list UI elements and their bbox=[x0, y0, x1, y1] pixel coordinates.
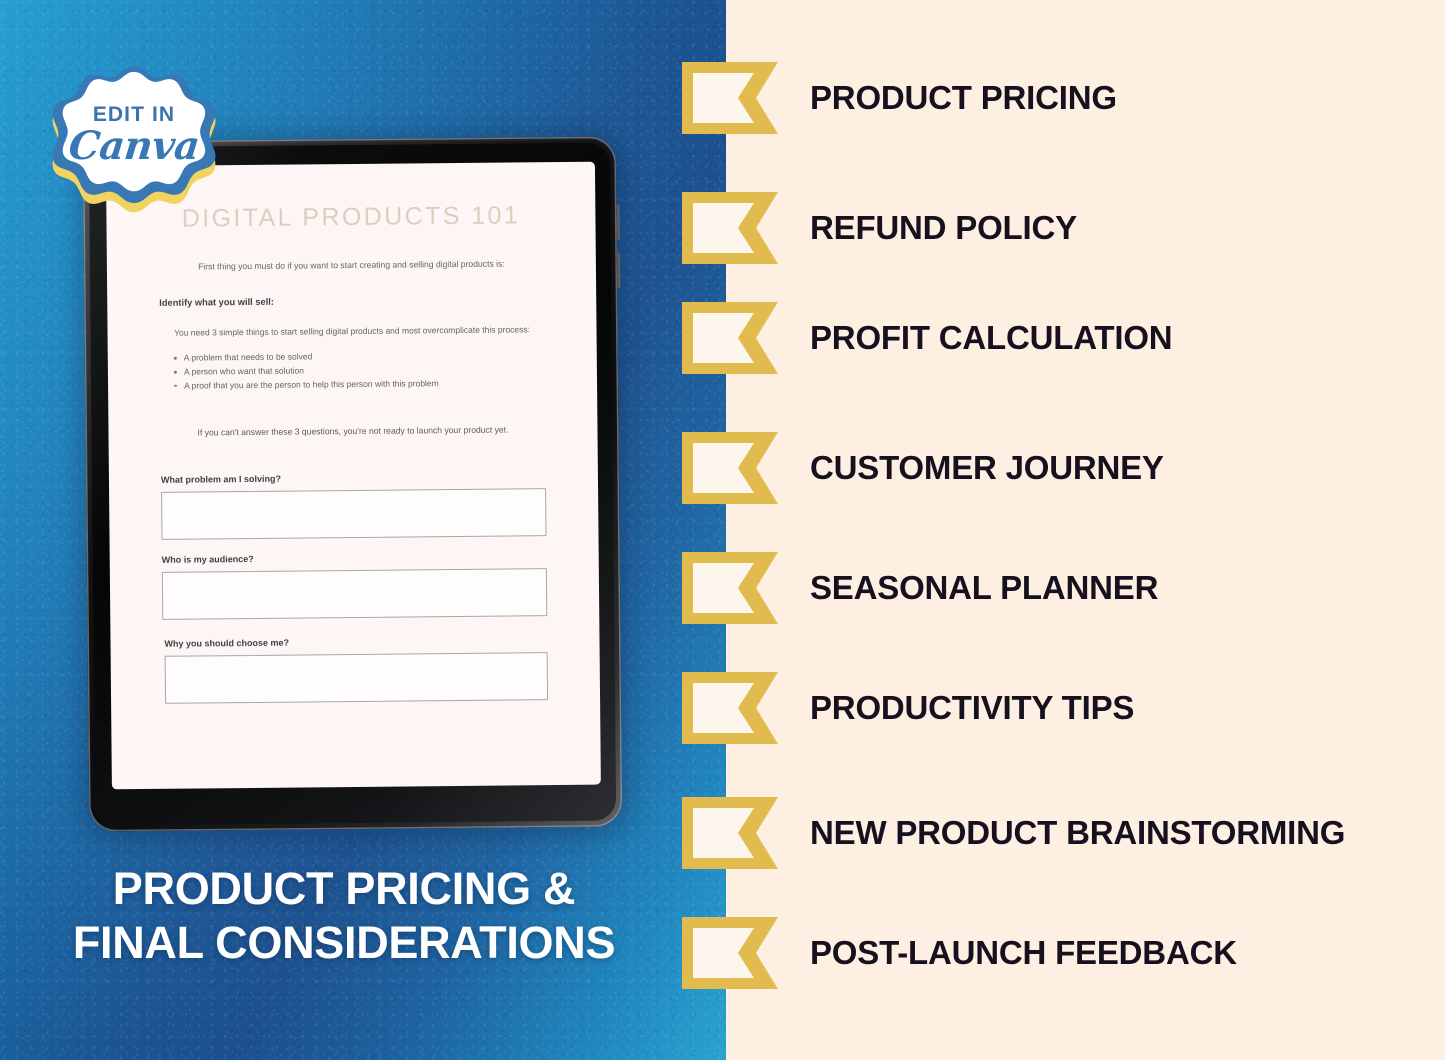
problem-answer-input[interactable] bbox=[161, 488, 546, 540]
worksheet-field-audience: Who is my audience? bbox=[162, 551, 548, 620]
document-paragraph: You need 3 simple things to start sellin… bbox=[155, 324, 548, 341]
audience-answer-input[interactable] bbox=[162, 568, 547, 620]
ribbon-flag-icon bbox=[682, 62, 778, 134]
poster-canvas: DIGITAL PRODUCTS 101 First thing you mus… bbox=[0, 0, 1445, 1060]
ribbon-flag-icon bbox=[682, 302, 778, 374]
worksheet-document: DIGITAL PRODUCTS 101 First thing you mus… bbox=[106, 162, 601, 790]
document-warning-text: If you can't answer these 3 questions, y… bbox=[148, 424, 557, 438]
feature-label: PRODUCT PRICING bbox=[810, 79, 1117, 117]
feature-label: PRODUCTIVITY TIPS bbox=[810, 689, 1134, 727]
worksheet-field-choose-me: Why you should choose me? bbox=[164, 635, 548, 704]
feature-label: NEW PRODUCT BRAINSTORMING bbox=[810, 814, 1345, 852]
choose-me-answer-input[interactable] bbox=[165, 652, 548, 704]
cream-background-panel bbox=[726, 0, 1445, 1060]
edit-in-canva-badge[interactable]: EDIT IN Canva bbox=[50, 51, 218, 219]
feature-item-productivity-tips[interactable]: PRODUCTIVITY TIPS bbox=[682, 672, 1134, 744]
feature-item-profit-calculation[interactable]: PROFIT CALCULATION bbox=[682, 302, 1172, 374]
feature-label: PROFIT CALCULATION bbox=[810, 319, 1172, 357]
ribbon-flag-icon bbox=[682, 552, 778, 624]
field-label: Who is my audience? bbox=[162, 551, 547, 565]
poster-title-line-2: FINAL CONSIDERATIONS bbox=[0, 916, 688, 970]
poster-title-line-1: PRODUCT PRICING & bbox=[113, 863, 575, 914]
tablet-screen: DIGITAL PRODUCTS 101 First thing you mus… bbox=[106, 162, 601, 790]
feature-item-post-launch-feedback[interactable]: POST-LAUNCH FEEDBACK bbox=[682, 917, 1237, 989]
feature-item-refund-policy[interactable]: REFUND POLICY bbox=[682, 192, 1077, 264]
list-item: A proof that you are the person to help … bbox=[172, 376, 579, 394]
field-label: Why you should choose me? bbox=[164, 635, 547, 649]
tablet-body: DIGITAL PRODUCTS 101 First thing you mus… bbox=[83, 136, 623, 831]
document-intro-text: First thing you must do if you want to s… bbox=[153, 257, 550, 273]
field-label: What problem am I solving? bbox=[161, 471, 546, 485]
tablet-mockup: DIGITAL PRODUCTS 101 First thing you mus… bbox=[83, 136, 623, 831]
feature-item-seasonal-planner[interactable]: SEASONAL PLANNER bbox=[682, 552, 1158, 624]
worksheet-field-problem: What problem am I solving? bbox=[161, 471, 547, 540]
ribbon-flag-icon bbox=[682, 432, 778, 504]
badge-scalloped-seal-icon bbox=[50, 51, 218, 219]
feature-label: SEASONAL PLANNER bbox=[810, 569, 1158, 607]
feature-item-product-pricing[interactable]: PRODUCT PRICING bbox=[682, 62, 1117, 134]
ribbon-flag-icon bbox=[682, 797, 778, 869]
feature-label: CUSTOMER JOURNEY bbox=[810, 449, 1164, 487]
document-subheading: Identify what you will sell: bbox=[159, 294, 578, 308]
ribbon-flag-icon bbox=[682, 672, 778, 744]
feature-label: POST-LAUNCH FEEDBACK bbox=[810, 934, 1237, 972]
feature-label: REFUND POLICY bbox=[810, 209, 1077, 247]
ribbon-flag-icon bbox=[682, 192, 778, 264]
poster-title: PRODUCT PRICING & FINAL CONSIDERATIONS bbox=[0, 862, 688, 971]
document-bullet-list: A problem that needs to be solved A pers… bbox=[172, 348, 579, 393]
feature-item-customer-journey[interactable]: CUSTOMER JOURNEY bbox=[682, 432, 1164, 504]
feature-item-new-product-brainstorming[interactable]: NEW PRODUCT BRAINSTORMING bbox=[682, 797, 1345, 869]
ribbon-flag-icon bbox=[682, 917, 778, 989]
